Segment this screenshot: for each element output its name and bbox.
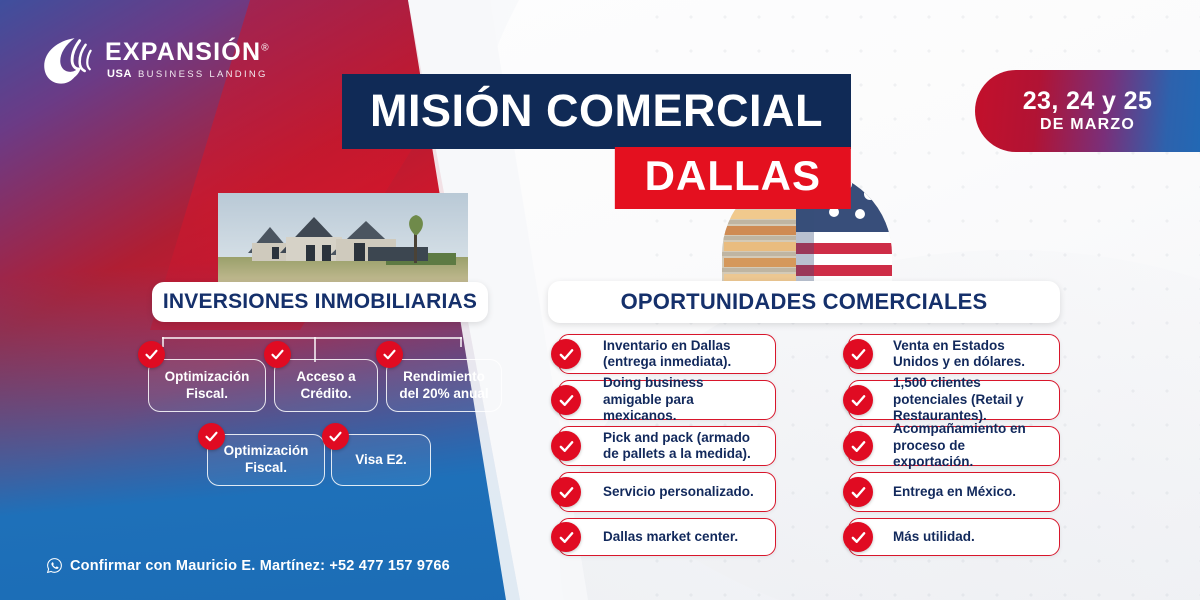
- check-icon: [551, 339, 581, 369]
- footer-contact-text: Confirmar con Mauricio E. Martínez: +52 …: [70, 558, 450, 574]
- brand-trademark: ®: [261, 43, 270, 54]
- brand-tagline: USA BUSINESS LANDING: [105, 68, 270, 80]
- check-icon: [843, 339, 873, 369]
- check-icon: [198, 423, 225, 450]
- list-item: Optimización Fiscal.: [148, 359, 266, 412]
- list-item: Inventario en Dallas (entrega inmediata)…: [558, 334, 776, 374]
- connector-horizontal: [162, 337, 462, 339]
- title-block: MISIÓN COMERCIAL DALLAS: [342, 74, 851, 209]
- brand-logo: EXPANSIÓN® USA BUSINESS LANDING: [40, 33, 270, 87]
- left-panel-heading: INVERSIONES INMOBILIARIAS: [152, 282, 488, 322]
- right-panel-heading: OPORTUNIDADES COMERCIALES: [548, 281, 1060, 323]
- brand-name-text: EXPANSIÓN: [105, 38, 261, 66]
- check-icon: [843, 477, 873, 507]
- list-item: Rendimiento del 20% anual: [386, 359, 502, 412]
- check-icon: [264, 341, 291, 368]
- list-item: Acceso a Crédito.: [274, 359, 378, 412]
- check-icon: [322, 423, 349, 450]
- check-icon: [843, 385, 873, 415]
- list-item: Doing business amigable para mexicanos.: [558, 380, 776, 420]
- list-item: Acompañamiento en proceso de exportación…: [848, 426, 1060, 466]
- brand-tagline-text: BUSINESS LANDING: [138, 69, 268, 80]
- list-item: Venta en Estados Unidos y en dólares.: [848, 334, 1060, 374]
- list-item: Servicio personalizado.: [558, 472, 776, 512]
- check-icon: [551, 477, 581, 507]
- check-icon: [843, 522, 873, 552]
- list-item: Pick and pack (armado de pallets a la me…: [558, 426, 776, 466]
- check-icon: [551, 431, 581, 461]
- page-subtitle: DALLAS: [615, 147, 851, 209]
- list-item: Dallas market center.: [558, 518, 776, 556]
- connector-stem-right: [460, 337, 462, 347]
- list-item: Entrega en México.: [848, 472, 1060, 512]
- date-month: DE MARZO: [1040, 115, 1135, 134]
- check-icon: [551, 522, 581, 552]
- check-icon: [843, 431, 873, 461]
- list-item: Optimización Fiscal.: [207, 434, 325, 486]
- check-icon: [138, 341, 165, 368]
- promo-banner: EXPANSIÓN® USA BUSINESS LANDING MISIÓN C…: [0, 0, 1200, 600]
- date-badge: 23, 24 y 25 DE MARZO: [975, 70, 1200, 152]
- page-title: MISIÓN COMERCIAL: [342, 74, 851, 149]
- list-item: 1,500 clientes potenciales (Retail y Res…: [848, 380, 1060, 420]
- expansion-swoosh-logo-icon: [40, 33, 94, 87]
- whatsapp-icon: [46, 557, 63, 574]
- list-item: Más utilidad.: [848, 518, 1060, 556]
- check-icon: [551, 385, 581, 415]
- footer-contact: Confirmar con Mauricio E. Martínez: +52 …: [46, 557, 450, 574]
- brand-name: EXPANSIÓN®: [105, 40, 270, 65]
- check-icon: [376, 341, 403, 368]
- date-days: 23, 24 y 25: [1023, 88, 1153, 114]
- brand-usa-label: USA: [107, 68, 132, 80]
